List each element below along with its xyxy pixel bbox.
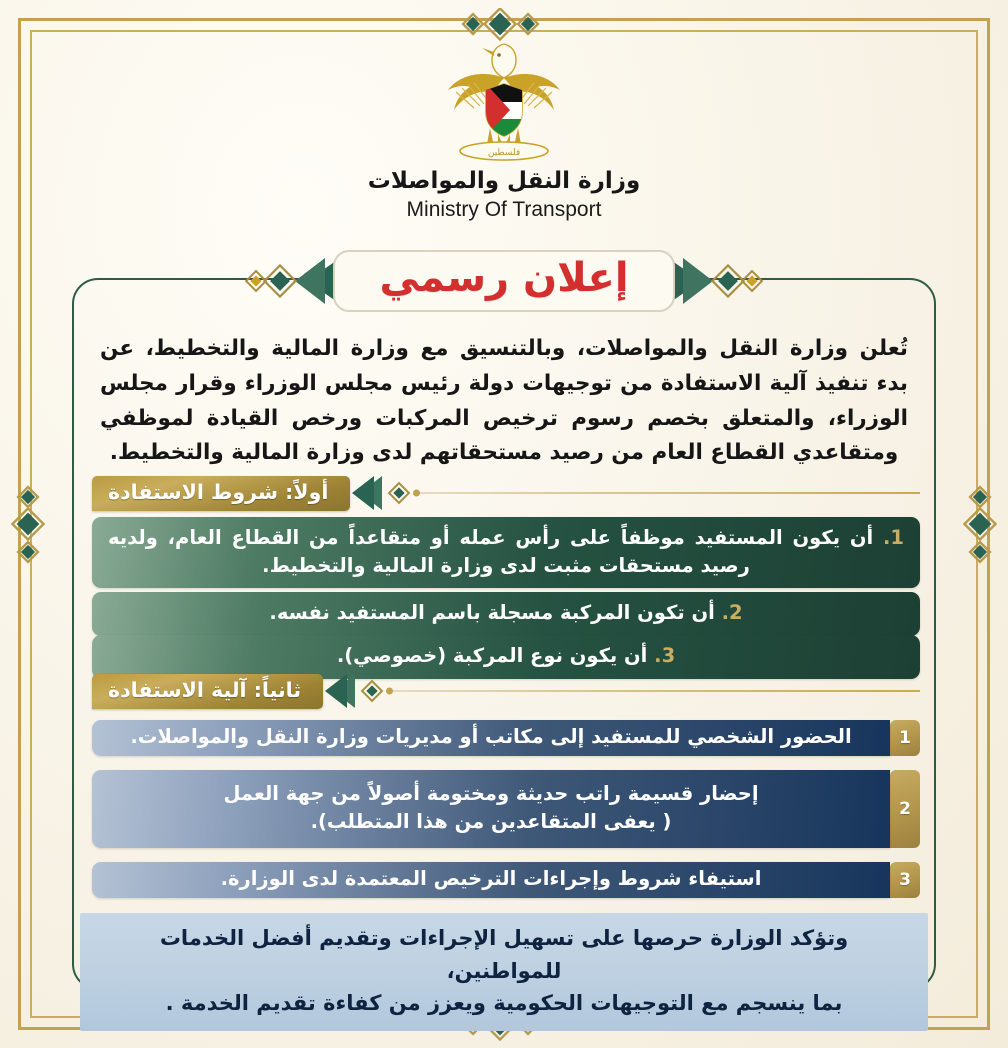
procedure-item-3-badge: 3 <box>890 862 920 898</box>
section-one-title: أولاً: شروط الاستفادة <box>92 476 350 511</box>
ministry-name-arabic: وزارة النقل والمواصلات <box>0 168 1008 194</box>
palestinian-eagle-emblem-icon: فلسطين <box>434 34 574 162</box>
procedure-item-1-body: الحضور الشخصي للمستفيد إلى مكاتب أو مدير… <box>92 720 890 756</box>
section-diamond-icon <box>386 478 412 508</box>
condition-item-1-number: 1. <box>883 526 904 549</box>
procedure-item-1-badge: 1 <box>890 720 920 756</box>
closing-statement: وتؤكد الوزارة حرصها على تسهيل الإجراءات … <box>80 913 928 1031</box>
closing-line-2: بما ينسجم مع التوجيهات الحكومية ويعزز من… <box>100 987 908 1020</box>
closing-line-1: وتؤكد الوزارة حرصها على تسهيل الإجراءات … <box>100 922 908 987</box>
section-one-rule <box>414 492 920 494</box>
content-card: تُعلن وزارة النقل والمواصلات، وبالتنسيق … <box>72 278 936 990</box>
intro-paragraph: تُعلن وزارة النقل والمواصلات، وبالتنسيق … <box>100 332 908 471</box>
procedure-item-2-body: إحضار قسيمة راتب حديثة ومختومة أصولاً من… <box>92 770 890 848</box>
procedure-item-1-line-1: الحضور الشخصي للمستفيد إلى مكاتب أو مدير… <box>106 723 876 751</box>
condition-item-1-text: أن يكون المستفيد موظفاً على رأس عمله أو … <box>108 526 873 577</box>
ministry-name-english: Ministry Of Transport <box>0 198 1008 222</box>
svg-text:فلسطين: فلسطين <box>488 148 520 158</box>
procedure-item-1: 1 الحضور الشخصي للمستفيد إلى مكاتب أو مد… <box>92 720 920 756</box>
section-two-rule <box>387 690 920 692</box>
procedure-item-2-line-1: إحضار قسيمة راتب حديثة ومختومة أصولاً من… <box>106 780 876 808</box>
condition-item-3-text: أن يكون نوع المركبة (خصوصي). <box>337 644 648 667</box>
condition-item-1: 1. أن يكون المستفيد موظفاً على رأس عمله … <box>92 517 920 588</box>
condition-item-2: 2. أن تكون المركبة مسجلة باسم المستفيد ن… <box>92 592 920 636</box>
announcement-poster: فلسطين وزارة النقل والمواصلات Ministry O… <box>0 0 1008 1048</box>
procedure-item-2-badge: 2 <box>890 770 920 848</box>
condition-item-2-text: أن تكون المركبة مسجلة باسم المستفيد نفسه… <box>269 601 714 624</box>
section-chevron-icon <box>325 674 355 708</box>
procedure-item-3-body: استيفاء شروط وإجراءات الترخيص المعتمدة ل… <box>92 862 890 898</box>
section-chevron-icon <box>352 476 382 510</box>
frame-ornament-left-icon <box>6 449 50 599</box>
section-two-title: ثانياً: آلية الاستفادة <box>92 674 323 709</box>
frame-ornament-right-icon <box>958 449 1002 599</box>
section-one-header: أولاً: شروط الاستفادة <box>92 476 920 510</box>
poster-header: فلسطين وزارة النقل والمواصلات Ministry O… <box>0 34 1008 222</box>
section-two-header: ثانياً: آلية الاستفادة <box>92 674 920 708</box>
procedure-item-2: 2 إحضار قسيمة راتب حديثة ومختومة أصولاً … <box>92 770 920 848</box>
condition-item-3-number: 3. <box>654 644 675 667</box>
section-diamond-icon <box>359 676 385 706</box>
procedure-item-2-line-2: ( يعفى المتقاعدين من هذا المتطلب). <box>106 808 876 836</box>
procedure-item-3: 3 استيفاء شروط وإجراءات الترخيص المعتمدة… <box>92 862 920 898</box>
procedure-item-3-line-1: استيفاء شروط وإجراءات الترخيص المعتمدة ل… <box>106 865 876 893</box>
condition-item-3: 3. أن يكون نوع المركبة (خصوصي). <box>92 635 920 679</box>
condition-item-2-number: 2. <box>722 601 743 624</box>
